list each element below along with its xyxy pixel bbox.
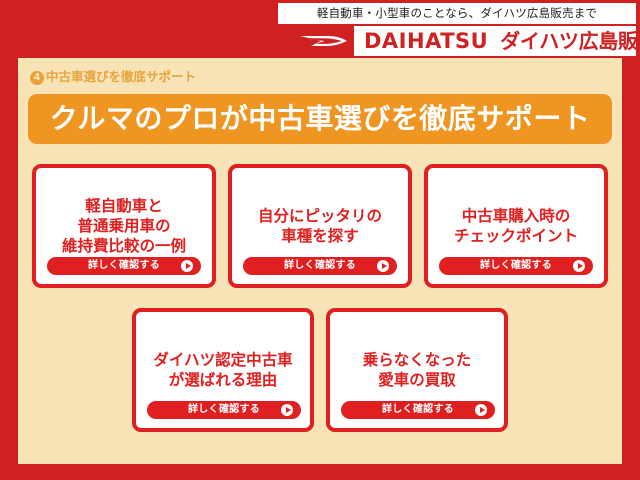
card-title-line: 乗らなくなった: [330, 351, 504, 371]
card-title-line: 自分にピッタリの: [232, 207, 408, 227]
card-purchase-checkpoints[interactable]: 中古車購入時の チェックポイント 詳しく確認する: [424, 164, 608, 288]
play-circle-icon: [573, 260, 585, 272]
card-title-line: ダイハツ認定中古車: [136, 351, 310, 371]
page-title: クルマのプロが中古車選びを徹底サポート: [50, 105, 591, 133]
card-title-line: チェックポイント: [428, 227, 604, 247]
brand-name-jp: ダイハツ広島販売: [500, 31, 640, 51]
page-root: 軽自動車・小型車のことなら、ダイハツ広島販売まで DAIHATSU ダイハツ広島…: [0, 0, 640, 480]
site-header: 軽自動車・小型車のことなら、ダイハツ広島販売まで DAIHATSU ダイハツ広島…: [0, 0, 640, 58]
card-row-bottom: ダイハツ認定中古車 が選ばれる理由 詳しく確認する 乗らなくなった 愛車の買取 …: [132, 308, 508, 432]
card-maintenance-cost-comparison[interactable]: 軽自動車と 普通乗用車の 維持費比較の一例 詳しく確認する: [32, 164, 216, 288]
play-circle-icon: [181, 260, 193, 272]
card-cta-label: 詳しく確認する: [480, 261, 552, 271]
brand-name: DAIHATSU: [364, 31, 488, 52]
card-cta-label: 詳しく確認する: [382, 405, 454, 415]
title-banner: クルマのプロが中古車選びを徹底サポート: [28, 94, 612, 144]
header-tagline: 軽自動車・小型車のことなら、ダイハツ広島販売まで: [317, 8, 597, 20]
card-cta-button[interactable]: 詳しく確認する: [47, 257, 201, 275]
card-cta-button[interactable]: 詳しく確認する: [147, 401, 301, 419]
card-cta-label: 詳しく確認する: [188, 405, 260, 415]
card-title-line: 軽自動車と: [36, 197, 212, 217]
card-cta-button[interactable]: 詳しく確認する: [243, 257, 397, 275]
card-row-top: 軽自動車と 普通乗用車の 維持費比較の一例 詳しく確認する 自分にピッタリの 車…: [32, 164, 608, 288]
card-title-line: が選ばれる理由: [136, 371, 310, 391]
section-number-badge: 4: [30, 71, 44, 85]
header-brand-block: 軽自動車・小型車のことなら、ダイハツ広島販売まで DAIHATSU ダイハツ広島…: [278, 0, 640, 58]
header-tagline-bar: 軽自動車・小型車のことなら、ダイハツ広島販売まで: [278, 3, 636, 24]
card-car-buyback[interactable]: 乗らなくなった 愛車の買取 詳しく確認する: [326, 308, 508, 432]
card-cta-button[interactable]: 詳しく確認する: [341, 401, 495, 419]
card-certified-used-car-reasons[interactable]: ダイハツ認定中古車 が選ばれる理由 詳しく確認する: [132, 308, 314, 432]
content-panel: 4 中古車選びを徹底サポート クルマのプロが中古車選びを徹底サポート 軽自動車と…: [18, 58, 622, 464]
card-title-line: 中古車購入時の: [428, 207, 604, 227]
card-cta-button[interactable]: 詳しく確認する: [439, 257, 593, 275]
play-circle-icon: [281, 404, 293, 416]
card-title-line: 車種を探す: [232, 227, 408, 247]
section-heading: 4 中古車選びを徹底サポート: [30, 69, 196, 86]
daihatsu-d-mark-icon: [292, 26, 354, 56]
card-title-line: 維持費比較の一例: [36, 237, 212, 257]
card-cta-label: 詳しく確認する: [284, 261, 356, 271]
play-circle-icon: [475, 404, 487, 416]
card-cta-label: 詳しく確認する: [88, 261, 160, 271]
card-title-line: 愛車の買取: [330, 371, 504, 391]
card-find-your-model[interactable]: 自分にピッタリの 車種を探す 詳しく確認する: [228, 164, 412, 288]
section-heading-label: 中古車選びを徹底サポート: [46, 71, 196, 84]
play-circle-icon: [377, 260, 389, 272]
card-title-line: 普通乗用車の: [36, 217, 212, 237]
brand-logo-row[interactable]: DAIHATSU ダイハツ広島販売: [292, 26, 636, 56]
